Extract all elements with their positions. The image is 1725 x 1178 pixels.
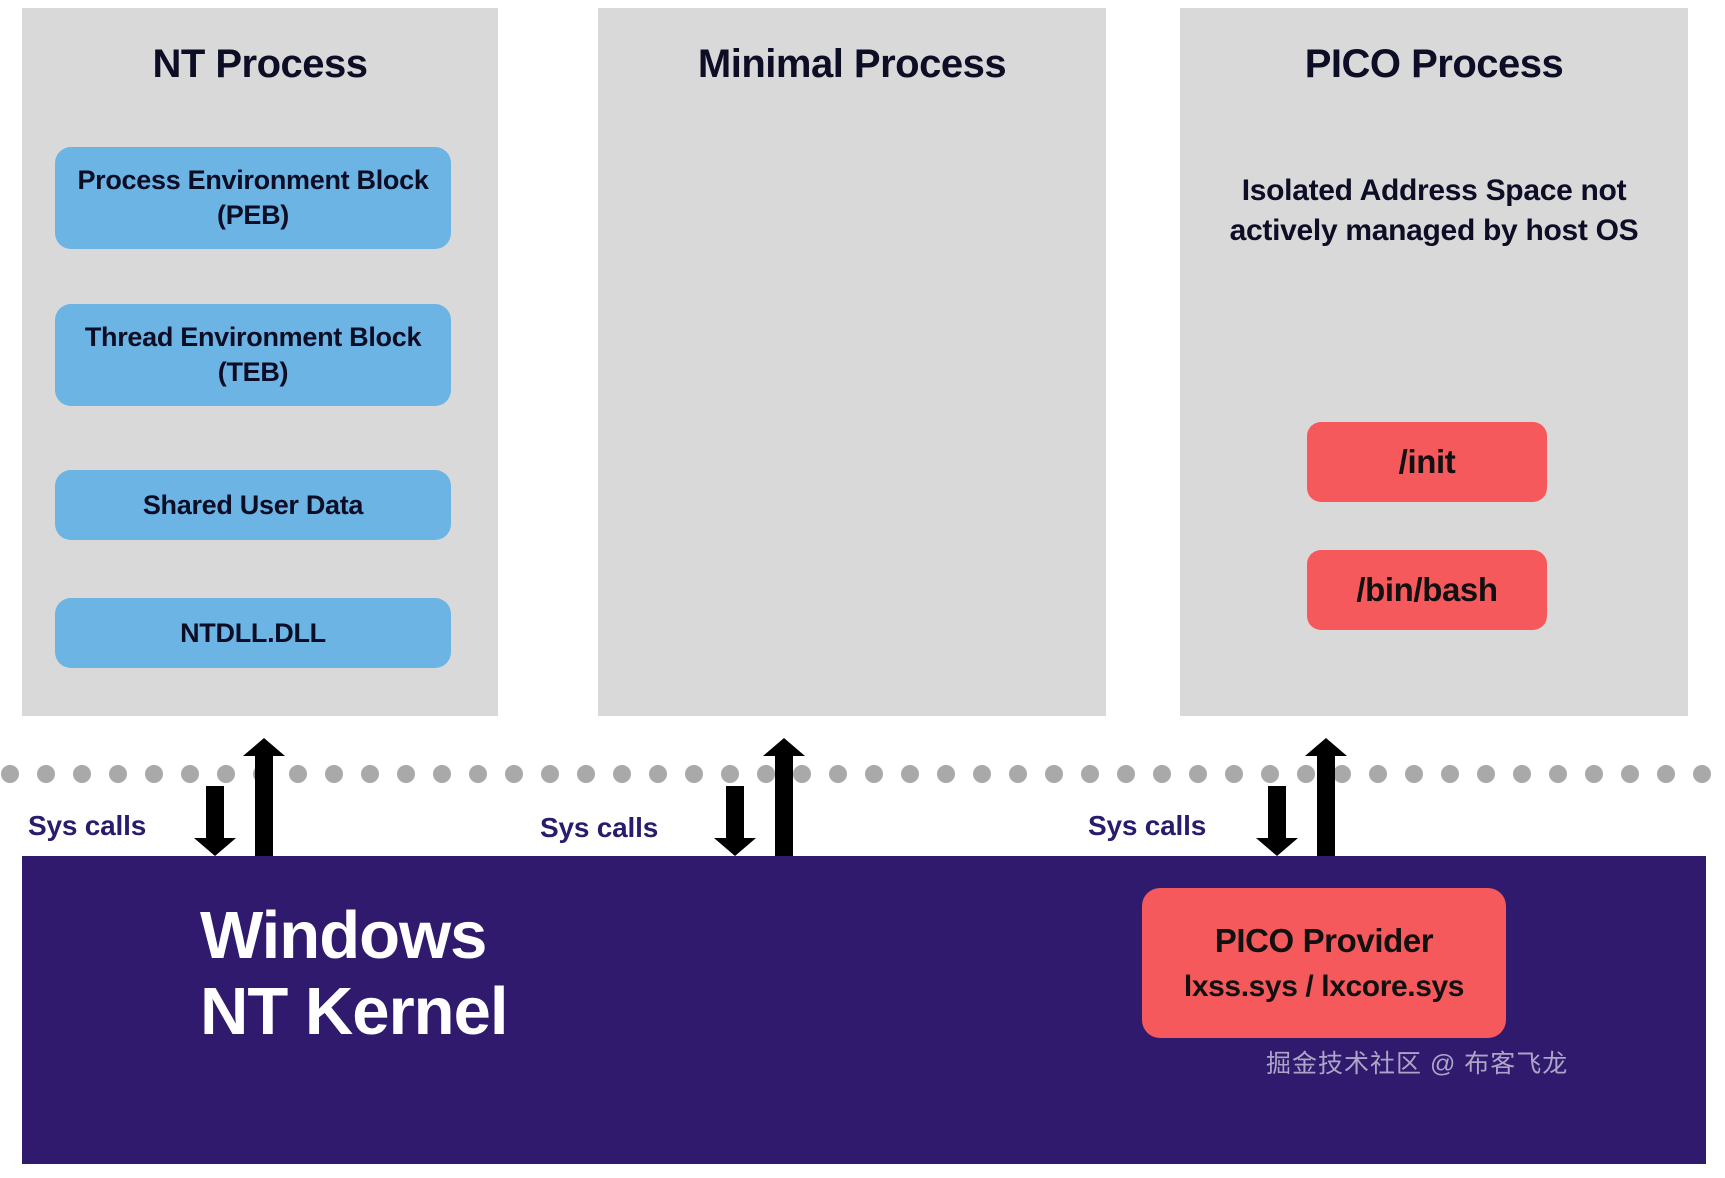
kernel-title-line1: Windows [200, 898, 507, 974]
pico-process-column: PICO Process Isolated Address Space not … [1180, 8, 1688, 716]
block-shared-user-data: Shared User Data [55, 470, 451, 540]
syscall-arrows-minimal [706, 706, 816, 856]
syscalls-label-minimal: Sys calls [540, 812, 658, 844]
block-process-environment-block: Process Environment Block (PEB) [55, 147, 451, 249]
arrow-up-icon [243, 738, 285, 856]
syscalls-label-pico: Sys calls [1088, 810, 1206, 842]
syscall-arrows-nt [186, 706, 296, 856]
block-ntdll-dll: NTDLL.DLL [55, 598, 451, 668]
watermark: 掘金技术社区 @ 布客飞龙 [1266, 1044, 1568, 1080]
kernel-title: Windows NT Kernel [200, 898, 507, 1051]
arrow-down-icon [1256, 786, 1298, 856]
block-bin-bash: /bin/bash [1307, 550, 1547, 630]
pico-provider-box: PICO Provider lxss.sys / lxcore.sys [1142, 888, 1506, 1038]
nt-process-title: NT Process [22, 42, 498, 86]
minimal-process-column: Minimal Process [598, 8, 1106, 716]
arrow-up-icon [1305, 738, 1347, 856]
kernel-title-line2: NT Kernel [200, 974, 507, 1050]
pico-provider-files: lxss.sys / lxcore.sys [1184, 970, 1464, 1004]
pico-provider-title: PICO Provider [1215, 922, 1434, 960]
syscall-arrows-pico [1248, 706, 1358, 856]
minimal-process-title: Minimal Process [598, 42, 1106, 86]
arrow-down-icon [714, 786, 756, 856]
block-init: /init [1307, 422, 1547, 502]
arrow-up-icon [763, 738, 805, 856]
pico-process-title: PICO Process [1180, 42, 1688, 86]
block-thread-environment-block: Thread Environment Block (TEB) [55, 304, 451, 406]
nt-process-column: NT Process Process Environment Block (PE… [22, 8, 498, 716]
pico-isolated-address-space-note: Isolated Address Space not actively mana… [1180, 171, 1688, 251]
syscalls-label-nt: Sys calls [28, 810, 146, 842]
windows-nt-kernel-bar: Windows NT Kernel PICO Provider lxss.sys… [22, 856, 1706, 1164]
arrow-down-icon [194, 786, 236, 856]
